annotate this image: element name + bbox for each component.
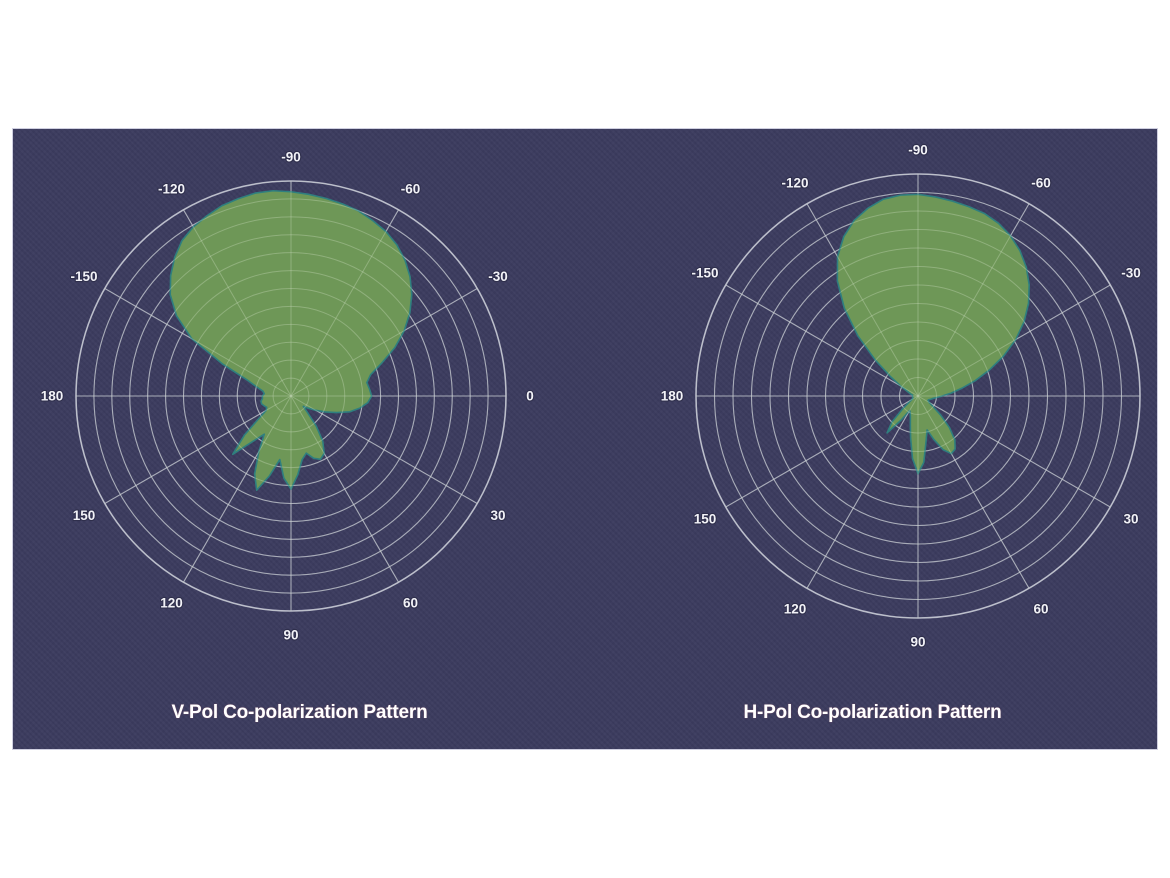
angle-tick-label: 150 — [73, 508, 96, 523]
angle-tick-label: 60 — [1033, 602, 1048, 617]
angle-tick-label: 60 — [403, 596, 418, 611]
angle-tick-label: 180 — [661, 389, 684, 404]
grid-spoke-overlay — [184, 396, 292, 582]
angle-tick-label: -120 — [781, 176, 808, 191]
angle-tick-label: 90 — [283, 628, 298, 643]
angle-tick-label: -150 — [691, 266, 718, 281]
polar-chart-v-pol: 0306090120150180-150-120-90-60-30 — [13, 129, 586, 702]
angle-tick-label: -90 — [908, 143, 928, 158]
pattern-trace — [837, 194, 1029, 473]
angle-tick-label: 30 — [1123, 512, 1138, 527]
angle-tick-label: 0 — [526, 389, 534, 404]
angle-tick-label: -150 — [70, 269, 97, 284]
angle-tick-label: 150 — [694, 512, 717, 527]
angle-tick-label: -30 — [488, 269, 508, 284]
angle-tick-label: 120 — [160, 596, 183, 611]
figure-root: 0306090120150180-150-120-90-60-30 V-Pol … — [0, 0, 1170, 878]
angle-tick-label: -120 — [158, 182, 185, 197]
angle-tick-label: 30 — [490, 508, 505, 523]
polar-grid-overlay — [76, 181, 506, 611]
angle-tick-label: 90 — [910, 635, 925, 650]
polar-grid-overlay — [696, 174, 1140, 618]
polar-plot-h-pol: 0306090120150180-150-120-90-60-30 H-Pol … — [586, 129, 1158, 750]
grid-spoke-overlay — [291, 396, 399, 582]
caption-h-pol: H-Pol Co-polarization Pattern — [586, 702, 1158, 724]
angle-tick-label: -60 — [401, 182, 421, 197]
caption-v-pol: V-Pol Co-polarization Pattern — [13, 702, 586, 724]
polar-chart-h-pol: 0306090120150180-150-120-90-60-30 — [586, 129, 1158, 702]
grid-spoke-overlay — [807, 396, 918, 588]
pattern-fill — [837, 194, 1029, 473]
chart-panel: 0306090120150180-150-120-90-60-30 V-Pol … — [12, 128, 1158, 750]
angle-tick-label: -60 — [1031, 176, 1051, 191]
polar-plot-v-pol: 0306090120150180-150-120-90-60-30 V-Pol … — [13, 129, 586, 750]
angle-tick-label: 180 — [41, 389, 64, 404]
angle-tick-label: 120 — [784, 602, 807, 617]
grid-spoke-overlay — [726, 396, 918, 507]
grid-spoke-overlay — [918, 396, 1029, 588]
angle-tick-label: -90 — [281, 150, 301, 165]
angle-tick-label: -30 — [1121, 266, 1141, 281]
